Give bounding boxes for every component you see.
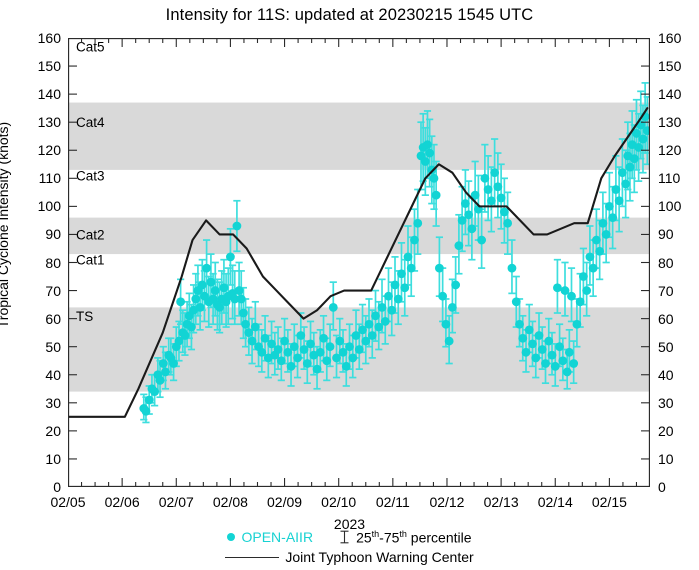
scatter-point: [567, 292, 576, 301]
scatter-point: [548, 351, 557, 360]
scatter-point: [342, 362, 351, 371]
y-tick-label-right-120: 120: [658, 143, 698, 157]
x-tick-label-02-15: 02/15: [575, 495, 643, 509]
y-tick-label-right-50: 50: [658, 340, 698, 354]
scatter-point: [582, 286, 591, 295]
scatter-point: [551, 362, 560, 371]
y-tick-label-10: 10: [16, 452, 61, 466]
scatter-point: [202, 264, 211, 273]
y-tick-label-right-70: 70: [658, 284, 698, 298]
scatter-point: [404, 252, 413, 261]
scatter-point: [484, 185, 493, 194]
scatter-point: [368, 331, 377, 340]
plot-area: TSCat1Cat2Cat3Cat4Cat5: [68, 38, 650, 487]
scatter-point: [220, 283, 229, 292]
scatter-point: [467, 224, 476, 233]
y-tick-label-right-10: 10: [658, 452, 698, 466]
scatter-point: [226, 252, 235, 261]
scatter-point: [303, 359, 312, 368]
scatter-point: [329, 303, 338, 312]
scatter-point: [490, 168, 499, 177]
scatter-point: [345, 342, 354, 351]
scatter-point: [287, 362, 296, 371]
y-tick-label-60: 60: [16, 312, 61, 326]
chart-page: Intensity for 11S: updated at 20230215 1…: [0, 0, 699, 570]
band-label-cat5: Cat5: [76, 39, 105, 54]
scatter-point: [432, 191, 441, 200]
scatter-point: [319, 334, 328, 343]
scatter-point: [322, 356, 331, 365]
chart-legend: OPEN-AIIR 25th-75th percentile Joint Typ…: [0, 527, 699, 567]
y-tick-label-right-110: 110: [658, 171, 698, 185]
y-tick-label-0: 0: [16, 480, 61, 494]
scatter-point: [207, 278, 216, 287]
y-tick-label-130: 130: [16, 115, 61, 129]
y-tick-label-150: 150: [16, 59, 61, 73]
scatter-point: [608, 213, 617, 222]
y-tick-label-120: 120: [16, 143, 61, 157]
scatter-point: [518, 334, 527, 343]
legend-label-openaiir: OPEN-AIIR: [241, 529, 313, 545]
band-label-cat4: Cat4: [76, 115, 105, 130]
scatter-point: [161, 368, 170, 377]
band-label-cat2: Cat2: [76, 227, 105, 242]
scatter-point: [293, 354, 302, 363]
scatter-point: [142, 407, 151, 416]
scatter-point: [438, 292, 447, 301]
legend-item-percentile: 25th-75th percentile: [339, 529, 471, 546]
scatter-point: [306, 339, 315, 348]
scatter-point: [618, 168, 627, 177]
legend-label-jtwc: Joint Typhoon Warning Center: [285, 549, 473, 565]
scatter-point: [573, 320, 582, 329]
band-label-cat3: Cat3: [76, 169, 105, 184]
y-tick-label-70: 70: [16, 284, 61, 298]
scatter-point: [630, 154, 639, 163]
scatter-point: [558, 356, 567, 365]
scatter-point: [602, 230, 611, 239]
scatter-point: [400, 283, 409, 292]
y-tick-label-30: 30: [16, 396, 61, 410]
scatter-point: [592, 236, 601, 245]
y-tick-label-right-150: 150: [658, 59, 698, 73]
scatter-point: [595, 247, 604, 256]
scatter-point: [196, 303, 205, 312]
scatter-point: [159, 359, 168, 368]
y-tick-label-right-90: 90: [658, 227, 698, 241]
scatter-point: [176, 297, 185, 306]
scatter-point: [522, 348, 531, 357]
scatter-point: [639, 135, 648, 144]
scatter-point: [451, 281, 460, 290]
y-axis-title-text: Tropical Cyclone Intensity (knots): [0, 121, 11, 327]
scatter-point: [626, 163, 635, 172]
band-label-cat1: Cat1: [76, 253, 105, 268]
scatter-dot-icon: [227, 533, 235, 541]
legend-row-2: Joint Typhoon Warning Center: [0, 547, 699, 567]
y-tick-label-100: 100: [16, 199, 61, 213]
scatter-point: [544, 337, 553, 346]
scatter-point: [421, 157, 430, 166]
y-tick-label-right-0: 0: [658, 480, 698, 494]
scatter-point: [235, 286, 244, 295]
scatter-point: [316, 348, 325, 357]
scatter-point: [156, 376, 165, 385]
scatter-point: [145, 396, 154, 405]
scatter-point: [448, 303, 457, 312]
scatter-point: [528, 339, 537, 348]
y-tick-label-80: 80: [16, 256, 61, 270]
scatter-point: [187, 323, 196, 332]
scatter-point: [493, 182, 502, 191]
scatter-point: [181, 331, 190, 340]
scatter-point: [508, 264, 517, 273]
y-tick-label-right-130: 130: [658, 115, 698, 129]
scatter-point: [477, 236, 486, 245]
scatter-point: [150, 387, 159, 396]
y-axis-title: Tropical Cyclone Intensity (knots): [0, 0, 12, 449]
scatter-point: [371, 311, 380, 320]
scatter-point: [500, 208, 509, 217]
scatter-point: [378, 303, 387, 312]
scatter-point: [410, 236, 419, 245]
scatter-point: [397, 269, 406, 278]
y-tick-label-40: 40: [16, 368, 61, 382]
scatter-point: [251, 323, 260, 332]
scatter-point: [241, 320, 250, 329]
scatter-point: [541, 359, 550, 368]
scatter-point: [313, 365, 322, 374]
y-tick-label-right-160: 160: [658, 31, 698, 45]
scatter-point: [589, 264, 598, 273]
scatter-point: [503, 219, 512, 228]
scatter-point: [169, 359, 178, 368]
scatter-point: [435, 264, 444, 273]
scatter-point: [280, 337, 289, 346]
scatter-point: [579, 272, 588, 281]
scatter-point: [553, 283, 562, 292]
scatter-point: [296, 331, 305, 340]
scatter-point: [611, 185, 620, 194]
scatter-point: [497, 194, 506, 203]
y-tick-label-right-140: 140: [658, 87, 698, 101]
y-tick-label-90: 90: [16, 227, 61, 241]
scatter-point: [425, 149, 434, 158]
scatter-point: [621, 180, 630, 189]
legend-item-openaiir: OPEN-AIIR: [227, 529, 313, 545]
page-title: Intensity for 11S: updated at 20230215 1…: [0, 6, 699, 25]
y-tick-label-right-30: 30: [658, 396, 698, 410]
y-tick-label-right-40: 40: [658, 368, 698, 382]
scatter-point: [441, 320, 450, 329]
scatter-point: [535, 331, 544, 340]
y-tick-label-right-80: 80: [658, 256, 698, 270]
scatter-point: [391, 281, 400, 290]
y-tick-label-50: 50: [16, 340, 61, 354]
intensity-plot: TSCat1Cat2Cat3Cat4Cat5: [68, 38, 650, 487]
scatter-point: [423, 140, 432, 149]
y-tick-label-110: 110: [16, 171, 61, 185]
scatter-point: [381, 317, 390, 326]
y-tick-label-right-100: 100: [658, 199, 698, 213]
scatter-point: [512, 297, 521, 306]
scatter-point: [445, 337, 454, 346]
scatter-point: [290, 342, 299, 351]
legend-item-jtwc: Joint Typhoon Warning Center: [225, 549, 473, 565]
scatter-point: [274, 345, 283, 354]
category-band-labels: TSCat1Cat2Cat3Cat4Cat5: [76, 39, 105, 323]
scatter-point: [464, 210, 473, 219]
scatter-point: [480, 174, 489, 183]
scatter-point: [563, 368, 572, 377]
scatter-point: [605, 202, 614, 211]
scatter-point: [461, 199, 470, 208]
scatter-point: [531, 354, 540, 363]
scatter-point: [586, 252, 595, 261]
scatter-point: [348, 354, 357, 363]
y-tick-label-140: 140: [16, 87, 61, 101]
scatter-point: [387, 306, 396, 315]
legend-row-1: OPEN-AIIR 25th-75th percentile: [0, 527, 699, 547]
scatter-point: [211, 286, 220, 295]
scatter-point: [487, 196, 496, 205]
scatter-point: [355, 345, 364, 354]
band-label-ts: TS: [76, 309, 93, 324]
scatter-point: [394, 295, 403, 304]
scatter-point: [407, 264, 416, 273]
legend-label-percentile: 25th-75th percentile: [356, 529, 471, 546]
scatter-point: [615, 196, 624, 205]
scatter-point: [430, 174, 439, 183]
scatter-point: [237, 295, 246, 304]
scatter-point: [384, 292, 393, 301]
scatter-point: [576, 297, 585, 306]
y-tick-label-160: 160: [16, 31, 61, 45]
scatter-point: [569, 359, 578, 368]
scatter-point: [598, 219, 607, 228]
scatter-point: [525, 325, 534, 334]
scatter-point: [198, 281, 207, 290]
scatter-point: [555, 342, 564, 351]
errorbar-icon: [339, 530, 350, 544]
scatter-point: [454, 241, 463, 250]
scatter-point: [335, 337, 344, 346]
scatter-point: [538, 345, 547, 354]
y-tick-label-20: 20: [16, 424, 61, 438]
scatter-point: [239, 309, 248, 318]
scatter-point: [277, 356, 286, 365]
line-swatch-icon: [225, 557, 279, 558]
scatter-point: [515, 320, 524, 329]
scatter-point: [233, 222, 242, 231]
scatter-point: [326, 342, 335, 351]
scatter-point: [191, 295, 200, 304]
y-tick-label-right-20: 20: [658, 424, 698, 438]
scatter-point: [365, 320, 374, 329]
y-tick-label-right-60: 60: [658, 312, 698, 326]
scatter-point: [565, 348, 574, 357]
scatter-point: [413, 219, 422, 228]
